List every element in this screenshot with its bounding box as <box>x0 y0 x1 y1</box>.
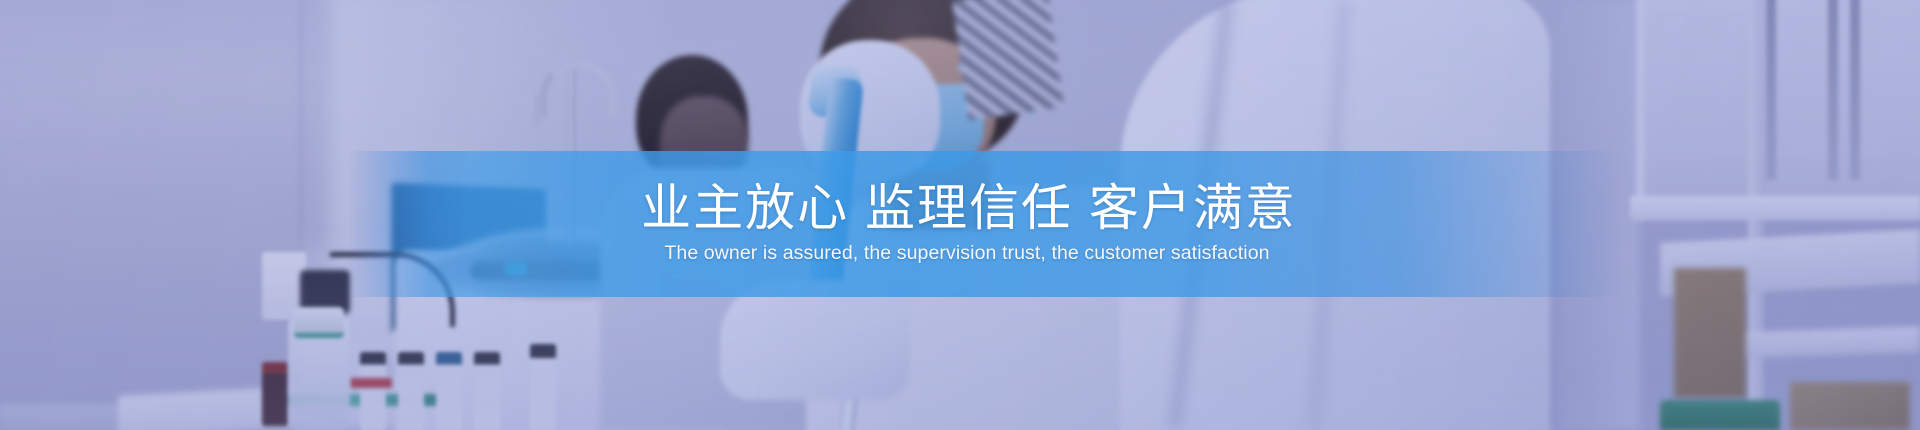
gloved-hand-lower <box>720 280 910 400</box>
rack-label <box>350 378 392 388</box>
cardboard-box <box>1790 382 1910 430</box>
sink-tap-arc <box>540 62 616 117</box>
bottle-cap <box>294 307 344 338</box>
reagent-vial <box>530 344 556 430</box>
reagent-vial <box>398 352 424 430</box>
hero-banner: 业主放心 监理信任 客户满意 The owner is assured, the… <box>0 0 1920 430</box>
slogan-subline: The owner is assured, the supervision tr… <box>664 243 1269 264</box>
sink-tap-spout <box>534 95 541 125</box>
slogan-headline: 业主放心 监理信任 客户满意 <box>641 183 1297 234</box>
reagent-vial <box>474 352 500 430</box>
dark-reagent-vial <box>262 362 288 426</box>
checked-collar <box>952 0 1064 120</box>
green-bin <box>1660 400 1780 430</box>
reagent-vial <box>436 352 462 430</box>
reagent-vial <box>360 352 386 430</box>
slogan-block: 业主放心 监理信任 客户满意 The owner is assured, the… <box>0 151 1920 297</box>
